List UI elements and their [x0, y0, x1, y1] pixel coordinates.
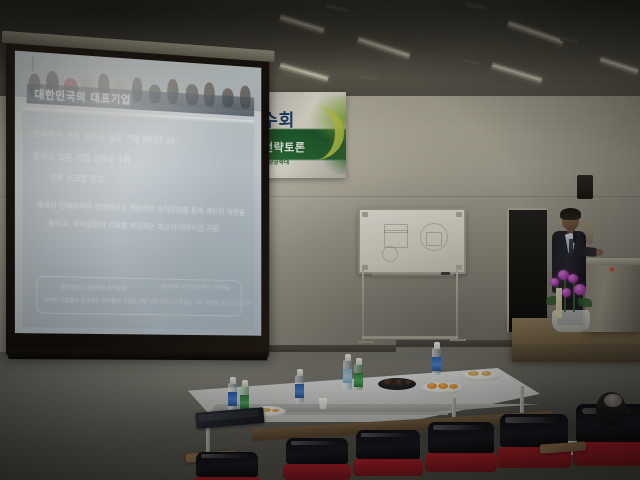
- whiteboard-leg: [362, 268, 364, 342]
- baseboard: [396, 340, 514, 347]
- bottle-cap: [242, 380, 248, 387]
- event-banner: 수회 전략토론 한양공학대: [258, 92, 346, 178]
- projection-screen: 대한민국의 대표기업 한국에서 가장 일하고 싶은 기업 BEST 30 일하고…: [6, 40, 269, 357]
- flower-bloom: [574, 284, 586, 295]
- bottle-cap: [297, 369, 303, 376]
- snack-item: [272, 409, 279, 412]
- bottle-label: [228, 392, 237, 406]
- bottle-cap: [345, 354, 351, 361]
- auditorium-seat[interactable]: [356, 430, 420, 476]
- seat-cushion: [283, 464, 351, 480]
- stage-front-face: [512, 344, 640, 362]
- whiteboard-sketch: [426, 232, 442, 246]
- projected-slide: 대한민국의 대표기업 한국에서 가장 일하고 싶은 기업 BEST 30 일하고…: [15, 51, 261, 336]
- bottle-label: [240, 395, 249, 409]
- whiteboard-sketch: [382, 246, 398, 262]
- flower-arrangement: [540, 262, 602, 332]
- flower-bloom: [568, 274, 578, 283]
- seat-highlight: [201, 454, 249, 458]
- photo-scene: 수회 전략토론 한양공학대: [0, 0, 640, 480]
- bottle-label: [295, 384, 304, 398]
- table-rail: [258, 412, 448, 415]
- flower-bloom: [550, 278, 559, 286]
- table-leg: [520, 386, 524, 414]
- flower-leaf: [578, 298, 592, 307]
- snack-item: [395, 379, 403, 385]
- auditorium-seat[interactable]: [500, 414, 568, 468]
- snack-item: [481, 371, 491, 376]
- seat-cushion: [353, 459, 423, 476]
- snack-item: [384, 379, 392, 385]
- seat-highlight: [361, 433, 411, 438]
- snack-item: [468, 371, 479, 376]
- whiteboard-foot: [358, 341, 374, 343]
- bottle-label: [354, 373, 363, 387]
- slide-bullet: 체계적 인재관리와 창의적이고 개방적인 조직문화를 통해 개인의 역량을: [36, 199, 245, 218]
- microphone-icon: [573, 231, 577, 243]
- bottle-label: [432, 357, 441, 371]
- auditorium-seat[interactable]: [286, 438, 348, 480]
- seat-cushion: [425, 453, 497, 472]
- slide-callout-right: 범세계적 국가기술 부가 가치창출: [161, 282, 230, 291]
- slide-callout-bottom: 이러한 기업들이 요구하는 우리들의 덕목은 어떤 것이 되는가? 우리는 그런…: [43, 296, 251, 307]
- flower-ribbon: [556, 288, 562, 318]
- whiteboard-corner: [456, 212, 462, 217]
- seat-highlight: [433, 425, 484, 430]
- audience-member-hair: [604, 394, 622, 407]
- whiteboard-sketch: [384, 230, 408, 233]
- orange-slice: [449, 384, 458, 389]
- bottle-cap: [356, 358, 362, 365]
- flower-bloom: [562, 288, 571, 297]
- slide-bullet: - 신문 스크랩 참고: [44, 172, 104, 185]
- slide-bullet: 한국에서 가장 일하고 싶은 기업 BEST 30: [33, 127, 176, 146]
- whiteboard-corner: [362, 212, 368, 217]
- clear-water-bottle[interactable]: [343, 360, 352, 390]
- screen-bottom-bar: [8, 350, 268, 360]
- snack-item: [405, 380, 412, 385]
- podium-indicator-light: [610, 268, 614, 271]
- presenter-hair: [560, 208, 581, 220]
- bottle-cap: [230, 377, 236, 384]
- wall-speaker-icon: [577, 175, 593, 199]
- orange-slice: [438, 383, 448, 389]
- auditorium-seat[interactable]: [196, 452, 258, 480]
- whiteboard-foot: [450, 339, 466, 341]
- water-bottle[interactable]: [228, 383, 237, 411]
- seat-highlight: [505, 417, 558, 422]
- banner-shading: [258, 92, 346, 178]
- figurine-stem: [33, 56, 34, 72]
- whiteboard: [358, 208, 466, 274]
- seat-highlight: [291, 441, 339, 445]
- slide-body: 한국에서 가장 일하고 싶은 기업 BEST 30 일하고 싶은 기업 선호도 …: [23, 111, 254, 330]
- water-bottle[interactable]: [295, 375, 304, 403]
- slide-title: 대한민국의 대표기업: [34, 86, 131, 108]
- whiteboard-sketch: [384, 224, 408, 248]
- orange-slice: [427, 383, 437, 389]
- water-bottle[interactable]: [432, 348, 441, 375]
- whiteboard-marker[interactable]: [441, 272, 450, 275]
- whiteboard-crossbar: [362, 336, 458, 339]
- slide-bullet: 높이고, 자아실현의 기회를 제공하는 최고의 대화이업 지향: [48, 217, 219, 233]
- bottle-label: [343, 369, 352, 383]
- green-bottle[interactable]: [354, 364, 363, 390]
- slide-callout-box: 창의적이고 개방적인 조직문화 범세계적 국가기술 부가 가치창출 이러한 기업…: [36, 276, 241, 317]
- bottle-cap: [434, 342, 440, 349]
- presenter-hand: [596, 249, 603, 256]
- slide-bullet: 일하고 싶은 기업 선호도 1위: [33, 149, 131, 166]
- slide-callout-left: 창의적이고 개방적인 조직문화: [61, 283, 127, 292]
- auditorium-seat[interactable]: [428, 422, 494, 472]
- whiteboard-leg: [456, 268, 458, 340]
